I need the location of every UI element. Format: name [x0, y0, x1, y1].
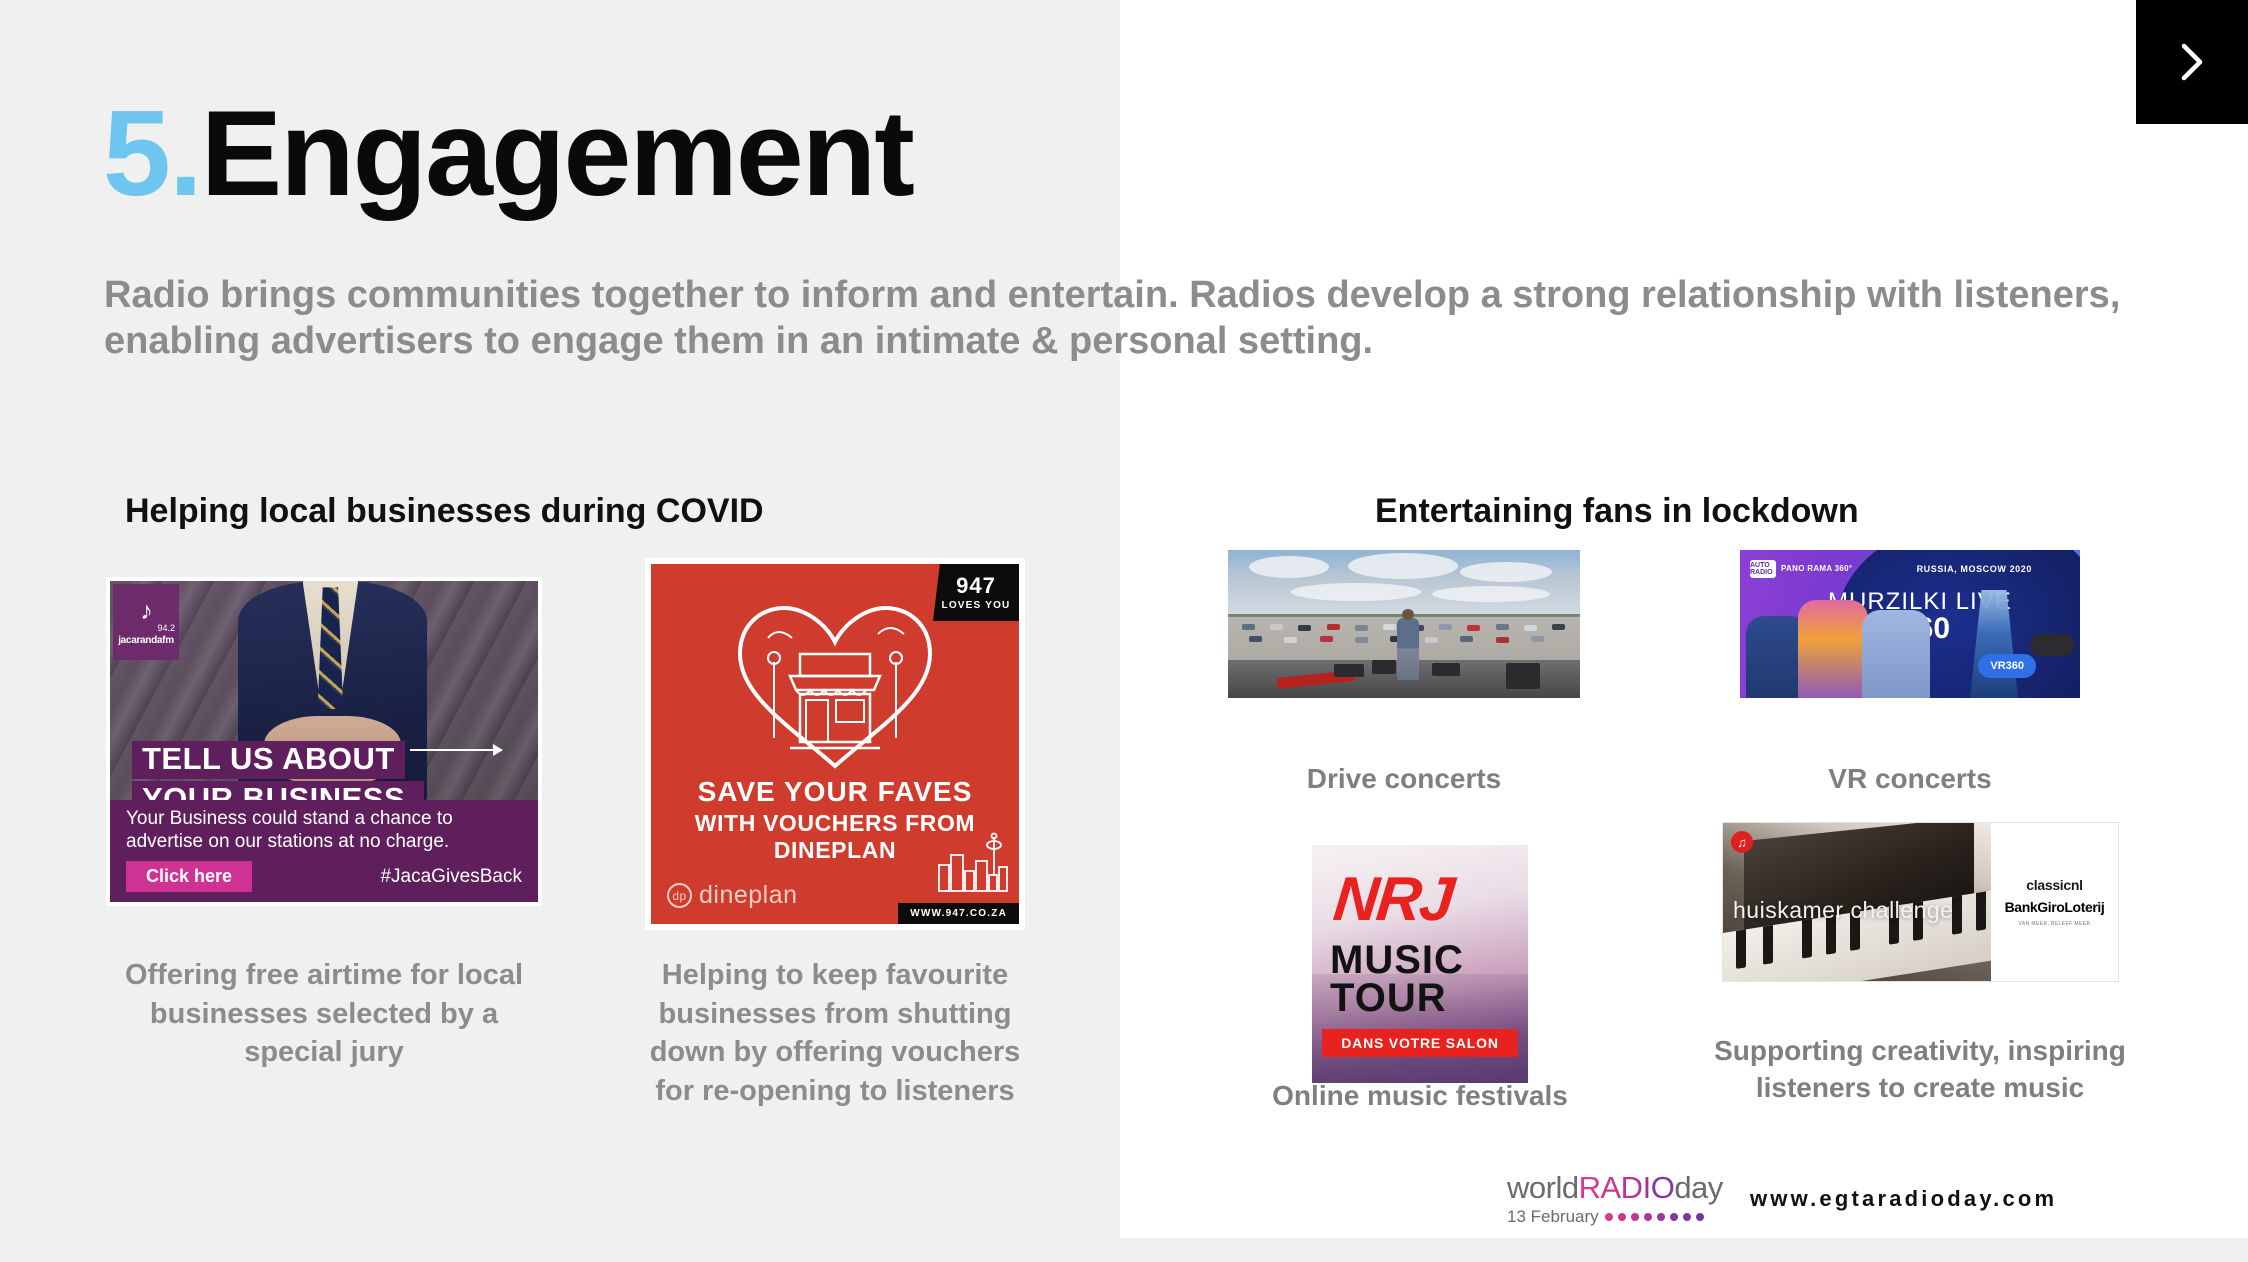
person-center: [1798, 600, 1868, 698]
page-title: 5.Engagement: [103, 92, 913, 214]
947-badge: 947 LOVES YOU: [933, 564, 1019, 621]
caption-huiskamer: Supporting creativity, inspiring listene…: [1690, 1032, 2150, 1106]
world-radio-day-logo: worldRADIOday 13 February: [1507, 1172, 1723, 1225]
wrd-dot: [1605, 1213, 1613, 1221]
car-shape: [1383, 624, 1396, 630]
car-shape: [1270, 624, 1283, 630]
car-shape: [1524, 625, 1537, 631]
piano-black-key: [1763, 926, 1773, 965]
wrd-dot: [1683, 1213, 1691, 1221]
person-right: [1862, 610, 1930, 698]
car-shape: [1425, 637, 1438, 643]
jacaranda-logo: ♪ 94.2 jacarandafm: [113, 584, 179, 660]
jacaranda-ad-card[interactable]: ♪ 94.2 jacarandafm TELL US ABOUT YOUR BU…: [106, 577, 542, 906]
monitor-speaker: [1506, 663, 1540, 689]
monitor-speaker: [1372, 660, 1396, 674]
piano-black-key: [1952, 896, 1962, 935]
wrd-date: 13 February: [1507, 1208, 1599, 1225]
skyline-icon: [937, 831, 1009, 898]
wrd-dots: [1605, 1213, 1704, 1221]
car-shape: [1355, 625, 1368, 631]
performer-figure: [1397, 618, 1419, 680]
dineplan-logo-text: dineplan: [699, 881, 798, 910]
arrow-right-icon: [410, 749, 502, 751]
page-subtitle: Radio brings communities together to inf…: [104, 272, 2144, 365]
car-shape: [1496, 624, 1509, 630]
huiskamer-image: ♫ huiskamer challenge: [1723, 823, 1991, 981]
car-shape: [1298, 625, 1311, 631]
photo-nrj-music-tour[interactable]: NRJ MUSIC TOUR DANS VOTRE SALON: [1312, 845, 1528, 1083]
piano-black-key: [1802, 919, 1812, 958]
jacaranda-station-name: jacarandafm: [118, 635, 174, 646]
dineplan-logo-mark: dp: [667, 883, 692, 908]
monitor-speaker: [1334, 664, 1364, 677]
bottom-strip: [0, 1238, 2248, 1262]
car-shape: [1531, 636, 1544, 642]
wrd-dot: [1631, 1213, 1639, 1221]
car-shape: [1249, 636, 1262, 642]
caption-jacaranda: Offering free airtime for local business…: [106, 956, 542, 1072]
947-badge-number: 947: [956, 575, 996, 597]
sponsor-tagline: VAN MEER, BELEEF MEER: [2019, 921, 2091, 927]
wrd-word-world: world: [1507, 1170, 1579, 1205]
autoradio-logo: AUTO RADIO PANO RAMA 360°: [1750, 560, 1852, 578]
car-shape: [1496, 637, 1509, 643]
click-here-button[interactable]: Click here: [126, 861, 252, 892]
chevron-right-icon: [2175, 39, 2209, 85]
wrd-word-day: day: [1674, 1170, 1722, 1205]
947-badge-subtitle: LOVES YOU: [942, 600, 1011, 611]
dineplan-logo: dp dineplan: [667, 881, 798, 910]
right-column-title: Entertaining fans in lockdown: [1375, 492, 1859, 531]
caption-dineplan: Helping to keep favourite businesses fro…: [635, 956, 1035, 1110]
jacaranda-logo-mark: ♪: [140, 599, 152, 624]
car-shape: [1460, 636, 1473, 642]
wrd-dot: [1670, 1213, 1678, 1221]
photo-vr-concert[interactable]: AUTO RADIO PANO RAMA 360° RUSSIA, MOSCOW…: [1740, 550, 2080, 698]
nrj-line-2: TOUR: [1330, 979, 1464, 1017]
cloud-shape: [1291, 583, 1421, 601]
caption-online-music-festivals: Online music festivals: [1210, 1077, 1630, 1114]
car-shape: [1439, 624, 1452, 630]
jacaranda-ad: ♪ 94.2 jacarandafm TELL US ABOUT YOUR BU…: [110, 581, 538, 902]
nrj-line-1: MUSIC: [1330, 941, 1464, 979]
jacaranda-hashtag: #JacaGivesBack: [380, 866, 522, 888]
cloud-shape: [1348, 553, 1458, 579]
jacaranda-ad-body: Your Business could stand a chance to ad…: [126, 808, 522, 854]
nrj-logo: NRJ: [1331, 869, 1456, 931]
947-website-url: WWW.947.CO.ZA: [898, 903, 1019, 924]
sponsor-classic-nl: classicnl: [2026, 877, 2082, 893]
autoradio-logo-mark: AUTO RADIO: [1750, 560, 1776, 578]
wrd-dot: [1657, 1213, 1665, 1221]
huiskamer-title: huiskamer challenge: [1733, 897, 1953, 924]
car-shape: [1242, 624, 1255, 630]
jacaranda-headline-1: TELL US ABOUT: [132, 741, 405, 779]
piano-black-key: [1736, 930, 1746, 969]
wrd-dot: [1618, 1213, 1626, 1221]
jacaranda-frequency: 94.2: [157, 624, 175, 633]
wrd-dot: [1696, 1213, 1704, 1221]
slide: 5.Engagement Radio brings communities to…: [0, 0, 2248, 1262]
dineplan-line-1: SAVE YOUR FAVES: [651, 776, 1019, 808]
next-slide-button[interactable]: [2136, 0, 2248, 124]
nrj-strip-label: DANS VOTRE SALON: [1322, 1029, 1518, 1057]
cloud-shape: [1460, 562, 1552, 582]
dineplan-ad: 947 LOVES YOU: [651, 564, 1019, 924]
cloud-shape: [1432, 586, 1550, 602]
heart-storefront-icon: [732, 598, 938, 775]
caption-drive-concerts: Drive concerts: [1228, 760, 1580, 797]
car-shape: [1552, 624, 1565, 630]
photo-drive-concert[interactable]: [1228, 550, 1580, 698]
car-shape: [1467, 625, 1480, 631]
huiskamer-sponsors: classicnl BankGiroLoterij VAN MEER, BELE…: [1991, 823, 2118, 981]
photo-huiskamer-challenge[interactable]: ♫ huiskamer challenge classicnl BankGiro…: [1722, 822, 2119, 982]
sponsor-bankgiroloterij: BankGiroLoterij: [2005, 899, 2105, 915]
car-shape: [1320, 636, 1333, 642]
left-column-title: Helping local businesses during COVID: [125, 492, 764, 531]
wrd-word-radio: RADIO: [1579, 1170, 1675, 1205]
website-url[interactable]: www.egtaradioday.com: [1750, 1186, 2057, 1212]
piano-black-key: [1976, 892, 1986, 931]
wrd-dot: [1644, 1213, 1652, 1221]
caption-vr-concerts: VR concerts: [1740, 760, 2080, 797]
nrj-music-tour-title: MUSIC TOUR: [1330, 941, 1464, 1017]
section-number: 5.: [103, 85, 201, 221]
car-shape: [1355, 637, 1368, 643]
monitor-speaker: [1432, 663, 1460, 676]
vr360-badge: VR360: [1978, 654, 2036, 678]
vr-people-group: [1746, 592, 1936, 698]
car-shape: [1327, 624, 1340, 630]
panorama360-label: PANO RAMA 360°: [1781, 565, 1852, 574]
jacaranda-ad-footer: Your Business could stand a chance to ad…: [110, 800, 538, 902]
vr-headset-icon: [2030, 634, 2074, 656]
cloud-shape: [1249, 556, 1329, 578]
car-shape: [1284, 637, 1297, 643]
vr-location-label: RUSSIA, MOSCOW 2020: [1917, 564, 2032, 574]
play-badge-icon: ♫: [1731, 831, 1753, 853]
dineplan-ad-card[interactable]: 947 LOVES YOU: [645, 558, 1025, 930]
section-title: Engagement: [201, 85, 913, 221]
